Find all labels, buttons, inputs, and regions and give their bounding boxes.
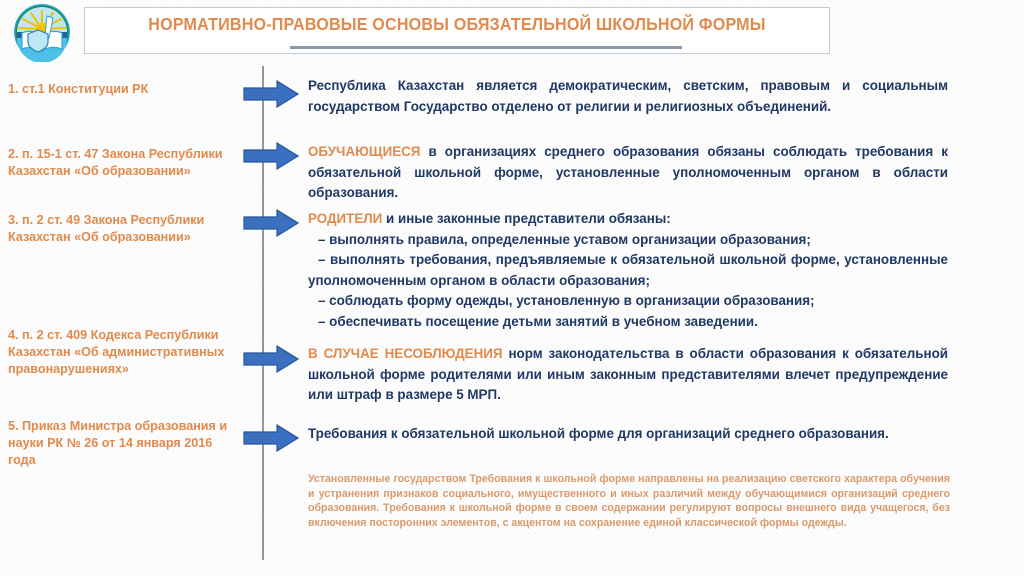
vertical-divider <box>262 66 264 560</box>
legal-source-4: 4. п. 2 ст. 409 Кодекса Республики Казах… <box>8 327 236 378</box>
blue-arrow-icon <box>243 142 299 170</box>
page-title: НОРМАТИВНО-ПРАВОВЫЕ ОСНОВЫ ОБЯЗАТЕЛЬНОЙ … <box>114 14 800 35</box>
title-underline <box>290 46 682 49</box>
list-item: – соблюдать форму одежды, установленную … <box>308 291 948 312</box>
blue-arrow-icon <box>243 209 299 237</box>
block-3-lead: РОДИТЕЛИ и иные законные представители о… <box>308 209 948 230</box>
block-4-highlight: В СЛУЧАЕ НЕСОБЛЮДЕНИЯ <box>308 346 503 361</box>
content-block-constitution: Республика Казахстан является демократич… <box>308 76 948 117</box>
requirements-fineprint: Установленные государством Требования к … <box>308 472 950 530</box>
list-item: – выполнять требования, предъявляемые к … <box>308 250 948 291</box>
blue-arrow-icon <box>243 424 299 452</box>
content-block-students: ОБУЧАЮЩИЕСЯ в организациях среднего обра… <box>308 142 948 204</box>
legal-source-5: 5. Приказ Министра образования и науки Р… <box>8 418 236 469</box>
slide-canvas: НОРМАТИВНО-ПРАВОВЫЕ ОСНОВЫ ОБЯЗАТЕЛЬНОЙ … <box>0 0 1024 576</box>
parents-duty-list: – выполнять правила, определенные уставо… <box>308 230 948 333</box>
list-item: – обеспечивать посещение детьми занятий … <box>308 312 948 333</box>
legal-source-1: 1. ст.1 Конституции РК <box>8 81 236 98</box>
block-2-highlight: ОБУЧАЮЩИЕСЯ <box>308 144 420 159</box>
blue-arrow-icon <box>243 345 299 373</box>
content-block-parents: РОДИТЕЛИ и иные законные представители о… <box>308 209 948 332</box>
block-3-highlight: РОДИТЕЛИ <box>308 211 382 226</box>
legal-source-2: 2. п. 15-1 ст. 47 Закона Республики Каза… <box>8 146 236 180</box>
school-emblem-logo <box>6 2 78 62</box>
list-item: – выполнять правила, определенные уставо… <box>308 230 948 251</box>
legal-source-3: 3. п. 2 ст. 49 Закона Республики Казахст… <box>8 212 236 246</box>
blue-arrow-icon <box>243 80 299 108</box>
block-1-text: Республика Казахстан является демократич… <box>308 78 948 114</box>
block-5-text: Требования к обязательной школьной форме… <box>308 426 889 441</box>
block-3-text: и иные законные представители обязаны: <box>382 211 670 226</box>
content-block-violation: В СЛУЧАЕ НЕСОБЛЮДЕНИЯ норм законодательс… <box>308 344 948 406</box>
content-block-requirements: Требования к обязательной школьной форме… <box>308 424 948 445</box>
